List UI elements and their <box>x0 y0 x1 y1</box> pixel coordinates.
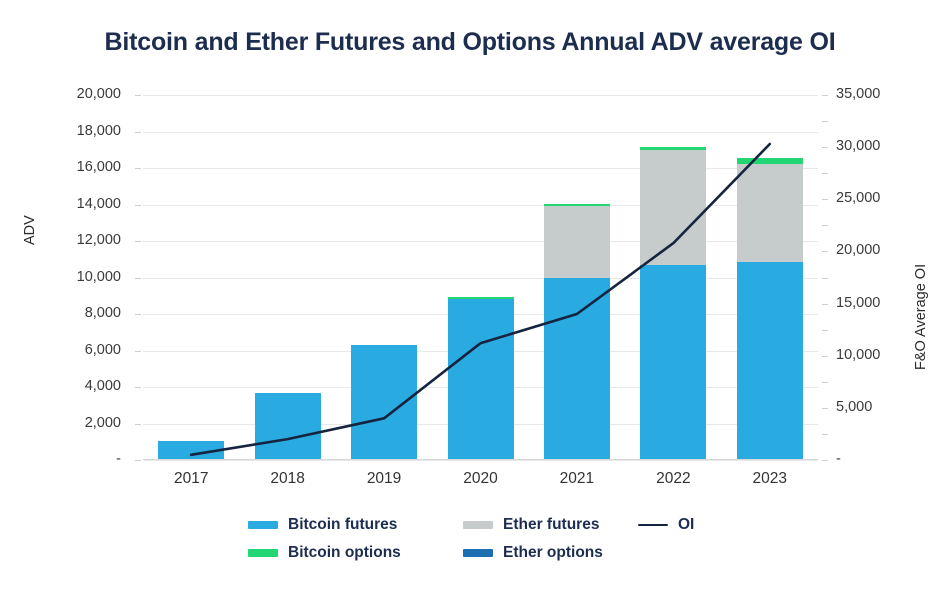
x-axis-tick-label: 2017 <box>143 470 239 488</box>
y-axis-right-title: F&O Average OI <box>913 264 929 370</box>
legend-item[interactable]: Ether options <box>463 544 603 562</box>
y-axis-left-tick-mark <box>135 168 141 169</box>
legend-item[interactable]: Bitcoin options <box>248 544 401 562</box>
y-axis-right-minor-tick-mark <box>822 278 828 279</box>
x-axis-tick-label: 2020 <box>433 470 529 488</box>
y-axis-right-tick-mark <box>822 408 828 409</box>
y-axis-right-tick-label: 30,000 <box>836 139 880 154</box>
legend-line-swatch-icon <box>638 524 668 526</box>
y-axis-right-tick-mark <box>822 251 828 252</box>
y-axis-left-tick-mark <box>135 205 141 206</box>
y-axis-right-tick-label: 5,000 <box>836 400 872 415</box>
y-axis-left-tick-mark <box>135 351 141 352</box>
legend-item-label: Ether options <box>503 544 603 562</box>
y-axis-left-tick-mark <box>135 314 141 315</box>
y-axis-right-minor-tick-mark <box>822 173 828 174</box>
legend-color-swatch-icon <box>463 521 493 529</box>
legend-row-bottom: Bitcoin optionsEther options <box>248 544 708 572</box>
x-axis-tick-label: 2018 <box>240 470 336 488</box>
chart-title: Bitcoin and Ether Futures and Options An… <box>0 28 940 57</box>
y-axis-right-tick-mark <box>822 460 828 461</box>
x-axis-tick-label: 2023 <box>722 470 818 488</box>
y-axis-left-tick-label: 20,000 <box>0 87 121 102</box>
legend-color-swatch-icon <box>248 549 278 557</box>
y-axis-right-tick-label: - <box>836 452 841 467</box>
legend-row-top: Bitcoin futuresEther futuresOI <box>248 516 708 544</box>
legend-item-label: Bitcoin futures <box>288 516 397 534</box>
y-axis-left-tick-label: 18,000 <box>0 124 121 139</box>
y-axis-left-tick-mark <box>135 95 141 96</box>
oi-line-path <box>191 144 770 455</box>
legend-item-label: OI <box>678 516 694 534</box>
y-axis-right-minor-tick-mark <box>822 330 828 331</box>
legend-item[interactable]: OI <box>638 516 694 534</box>
y-axis-right-tick-label: 10,000 <box>836 348 880 363</box>
y-axis-right-tick-label: 35,000 <box>836 87 880 102</box>
y-axis-right-tick-mark <box>822 147 828 148</box>
legend-item[interactable]: Bitcoin futures <box>248 516 397 534</box>
y-axis-right-tick-mark <box>822 95 828 96</box>
y-axis-left-tick-label: 8,000 <box>0 306 121 321</box>
y-axis-left-tick-label: - <box>0 452 121 467</box>
y-axis-left-tick-label: 4,000 <box>0 379 121 394</box>
y-axis-left-tick-label: 6,000 <box>0 343 121 358</box>
legend-item-label: Ether futures <box>503 516 599 534</box>
y-axis-right-tick-label: 25,000 <box>836 191 880 206</box>
y-axis-left-tick-mark <box>135 278 141 279</box>
y-axis-left-tick-mark <box>135 460 141 461</box>
y-axis-left-tick-label: 16,000 <box>0 160 121 175</box>
x-axis-tick-label: 2021 <box>529 470 625 488</box>
y-axis-right-minor-tick-mark <box>822 382 828 383</box>
plot-area <box>143 95 818 460</box>
y-axis-left-tick-label: 10,000 <box>0 270 121 285</box>
x-axis-tick-label: 2022 <box>625 470 721 488</box>
y-axis-right-minor-tick-mark <box>822 121 828 122</box>
gridline <box>143 460 818 461</box>
y-axis-right-tick-mark <box>822 199 828 200</box>
y-axis-left-tick-mark <box>135 241 141 242</box>
legend-color-swatch-icon <box>463 549 493 557</box>
y-axis-left-tick-label: 2,000 <box>0 416 121 431</box>
x-axis-baseline <box>143 459 818 460</box>
legend-item[interactable]: Ether futures <box>463 516 599 534</box>
y-axis-right-tick-mark <box>822 304 828 305</box>
y-axis-right-minor-tick-mark <box>822 434 828 435</box>
y-axis-right-tick-mark <box>822 356 828 357</box>
oi-line-series <box>143 95 818 460</box>
y-axis-right-minor-tick-mark <box>822 225 828 226</box>
chart-legend: Bitcoin futuresEther futuresOI Bitcoin o… <box>248 516 708 572</box>
legend-item-label: Bitcoin options <box>288 544 401 562</box>
legend-color-swatch-icon <box>248 521 278 529</box>
y-axis-left-tick-mark <box>135 424 141 425</box>
y-axis-left-tick-label: 12,000 <box>0 233 121 248</box>
y-axis-left-tick-mark <box>135 387 141 388</box>
x-axis-tick-label: 2019 <box>336 470 432 488</box>
y-axis-left-tick-mark <box>135 132 141 133</box>
y-axis-right-tick-label: 15,000 <box>836 296 880 311</box>
chart-container: Bitcoin and Ether Futures and Options An… <box>0 0 940 600</box>
y-axis-right-tick-label: 20,000 <box>836 243 880 258</box>
y-axis-left-tick-label: 14,000 <box>0 197 121 212</box>
